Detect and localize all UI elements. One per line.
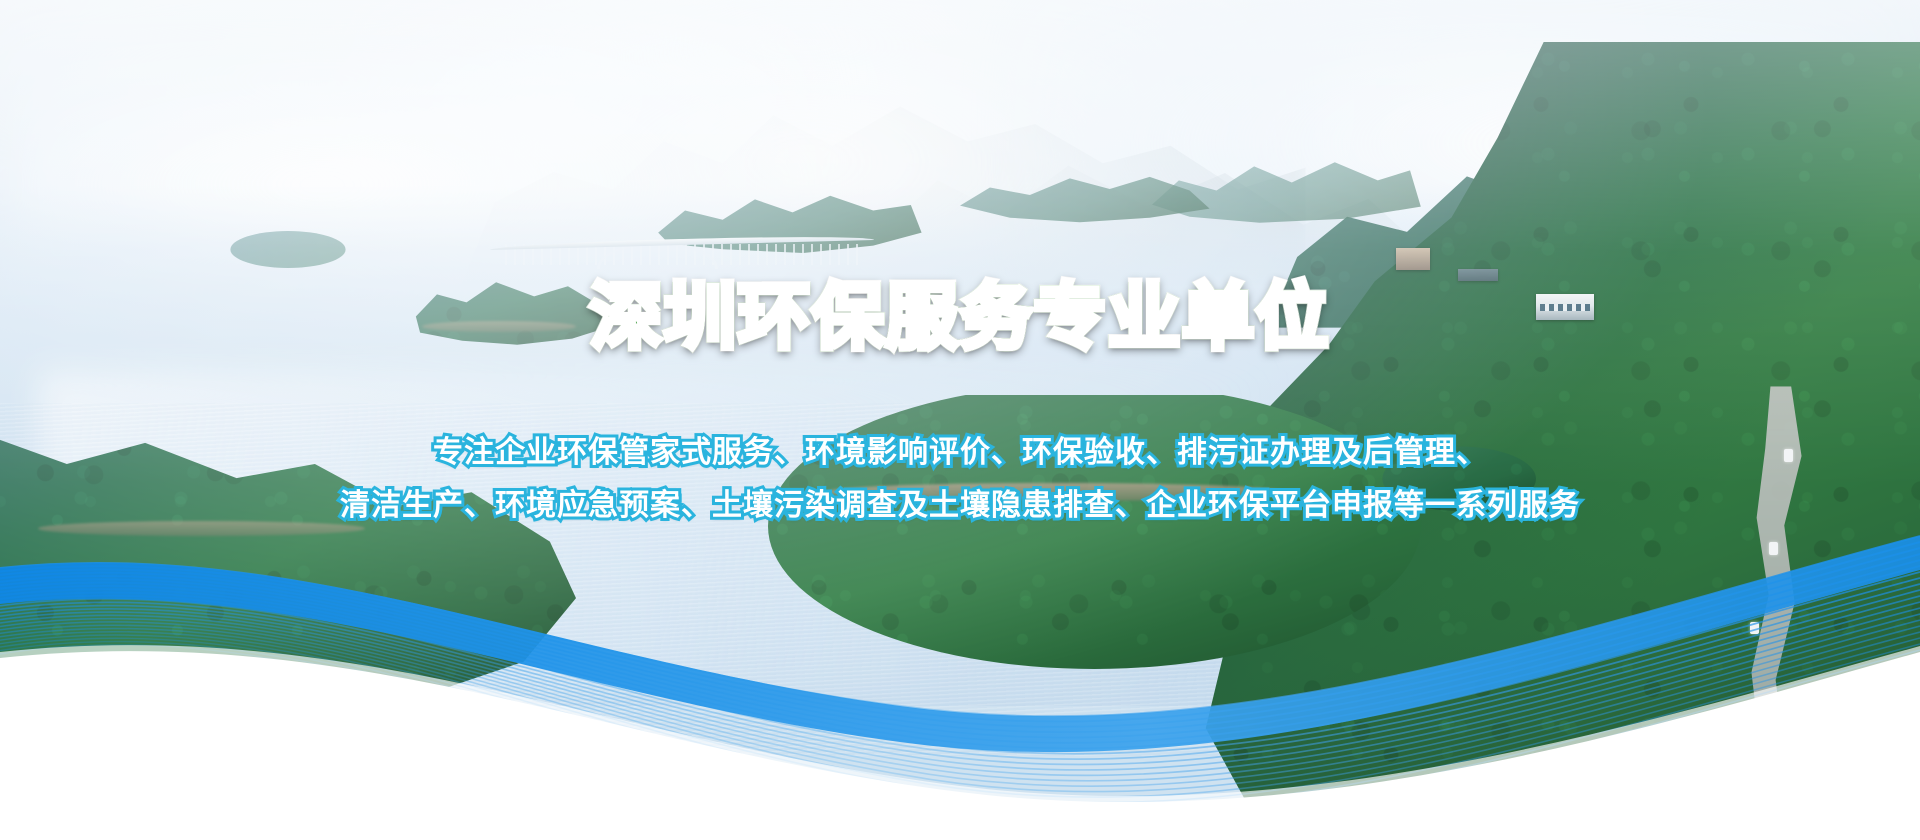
hillside-building-roof	[1458, 269, 1498, 281]
hero-banner: 深圳环保服务专业单位 深圳环保服务专业单位 专注企业环保管家式服务、环境影响评价…	[0, 0, 1920, 840]
vehicle-icon	[1769, 542, 1778, 555]
hillside-building-stone	[1396, 248, 1430, 270]
page-title: 深圳环保服务专业单位	[0, 282, 1920, 354]
subtitle-line2: 清洁生产、环境应急预案、土壤污染调查及土壤隐患排查、企业环保平台申报等一系列服务	[0, 491, 1920, 521]
landscape-photo	[0, 0, 1920, 840]
shoreline-left	[38, 521, 364, 536]
arch-bridge-icon	[490, 231, 874, 269]
vehicle-icon	[1750, 622, 1759, 634]
subtitle-line1: 专注企业环保管家式服务、环境影响评价、环保验收、排污证办理及后管理、	[0, 438, 1920, 468]
